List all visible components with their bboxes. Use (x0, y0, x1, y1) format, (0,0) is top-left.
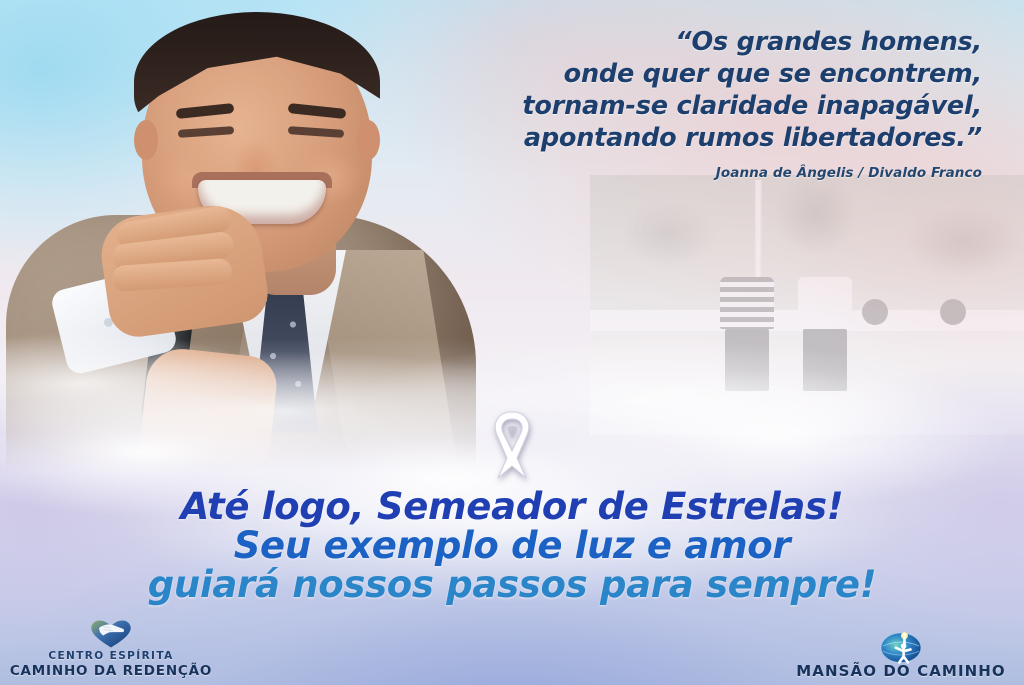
headline-line-1: Até logo, Semeador de Estrelas! (0, 487, 1024, 526)
logo-centro-espirita-caminho-da-redencao: CENTRO ESPÍRITA CAMINHO DA REDENÇÃO (6, 616, 216, 679)
mourning-ribbon-icon (477, 406, 547, 484)
logo-mansao-do-caminho: MANSÃO DO CAMINHO (786, 629, 1016, 679)
heart-hands-logo-icon (6, 616, 216, 650)
logo-left-line-2: CAMINHO DA REDENÇÃO (6, 663, 216, 679)
headline-line-2: Seu exemplo de luz e amor (0, 526, 1024, 565)
quote-attribution: Joanna de Ângelis / Divaldo Franco (422, 165, 982, 181)
memorial-poster: “Os grandes homens, onde quer que se enc… (0, 0, 1024, 685)
headline-line-3: guiará nossos passos para sempre! (0, 565, 1024, 604)
quote-line: onde quer que se encontrem, (422, 58, 982, 90)
quote-line: tornam-se claridade inapagável, (422, 90, 982, 122)
logo-left-line-1: CENTRO ESPÍRITA (6, 650, 216, 663)
globe-torch-logo-icon (786, 629, 1016, 663)
quote-line: “Os grandes homens, (422, 26, 982, 58)
headline-block: Até logo, Semeador de Estrelas! Seu exem… (0, 487, 1024, 604)
quote-block: “Os grandes homens, onde quer que se enc… (422, 26, 982, 181)
logo-right-line-2: MANSÃO DO CAMINHO (786, 663, 1016, 679)
quote-line: apontando rumos libertadores.” (422, 122, 982, 154)
